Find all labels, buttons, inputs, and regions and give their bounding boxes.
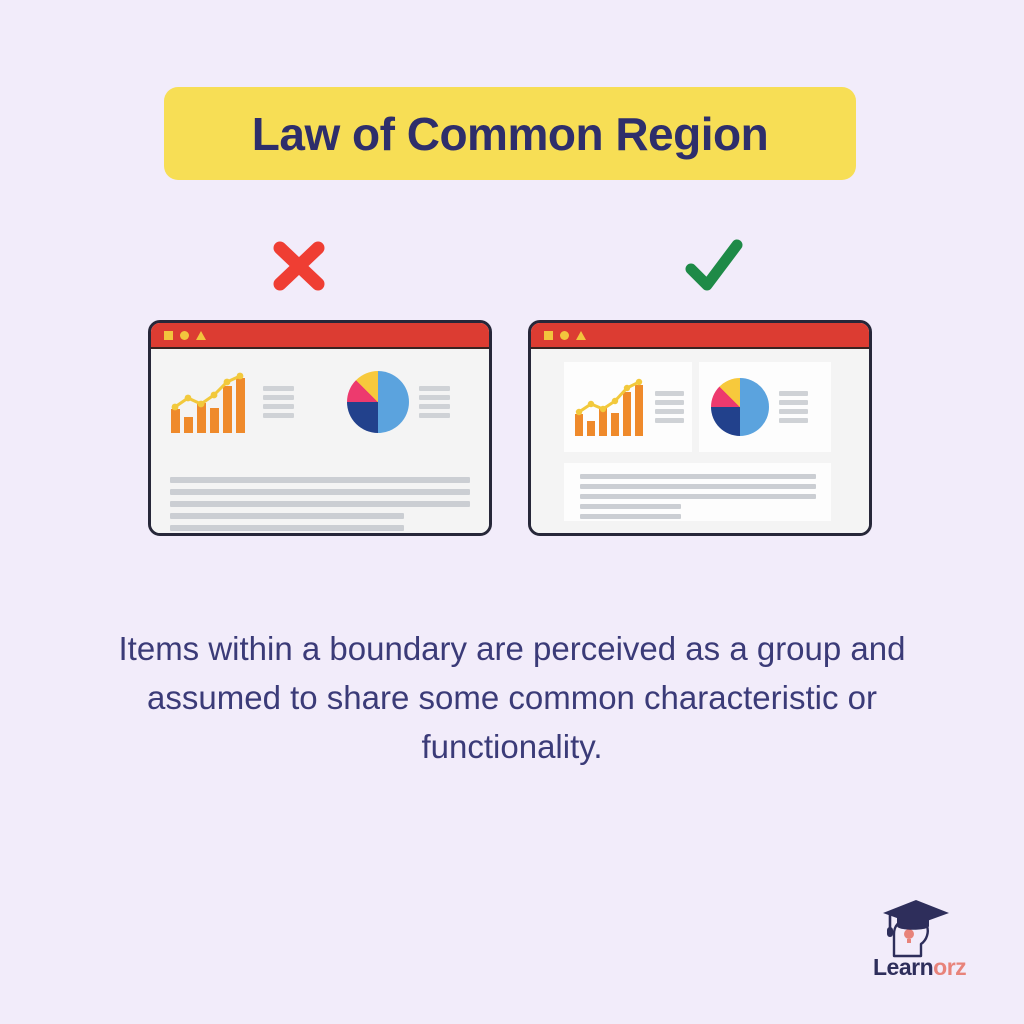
placeholder-line xyxy=(170,477,470,483)
chart-caption-lines xyxy=(419,386,450,418)
placeholder-line xyxy=(580,474,816,479)
paragraph-block xyxy=(170,477,470,531)
placeholder-line xyxy=(263,413,294,418)
placeholder-line xyxy=(655,391,684,396)
window-viewport xyxy=(151,349,489,533)
title-banner: Law of Common Region xyxy=(164,87,856,180)
trend-sparkline xyxy=(169,371,253,433)
pie-chart-widget xyxy=(711,378,808,436)
cross-mark-icon xyxy=(264,231,334,301)
placeholder-line xyxy=(170,513,404,519)
circle-control-icon[interactable] xyxy=(180,331,189,340)
placeholder-line xyxy=(580,514,681,519)
graduation-cap-head-lightbulb-icon xyxy=(881,898,951,958)
bar-chart-widget xyxy=(169,371,294,433)
chart-caption-lines xyxy=(655,391,684,423)
square-control-icon[interactable] xyxy=(544,331,553,340)
brand-logo: Learnorz xyxy=(873,898,993,984)
chart-caption-lines xyxy=(263,386,294,418)
square-control-icon[interactable] xyxy=(164,331,173,340)
placeholder-line xyxy=(419,386,450,391)
placeholder-line xyxy=(779,409,808,414)
placeholder-line xyxy=(170,489,470,495)
placeholder-line xyxy=(655,400,684,405)
distribution-pie-chart xyxy=(711,378,769,436)
placeholder-line xyxy=(580,484,816,489)
growth-bar-chart xyxy=(169,371,253,433)
window-viewport xyxy=(531,349,869,533)
card-pie-chart[interactable] xyxy=(699,362,831,452)
triangle-control-icon[interactable] xyxy=(576,331,586,340)
browser-window-ungrouped xyxy=(148,320,492,536)
brand-wordmark: Learnorz xyxy=(873,954,966,981)
pie-chart-widget xyxy=(347,371,450,433)
brand-name-secondary: orz xyxy=(933,954,966,980)
placeholder-line xyxy=(655,409,684,414)
trend-sparkline xyxy=(573,378,645,436)
placeholder-line xyxy=(779,400,808,405)
browser-window-grouped xyxy=(528,320,872,536)
placeholder-line xyxy=(779,391,808,396)
placeholder-line xyxy=(263,395,294,400)
placeholder-line xyxy=(419,404,450,409)
page-title: Law of Common Region xyxy=(252,107,768,161)
window-titlebar xyxy=(531,323,869,349)
distribution-pie-chart xyxy=(347,371,409,433)
placeholder-line xyxy=(419,395,450,400)
caption-text: Items within a boundary are perceived as… xyxy=(112,624,912,771)
placeholder-line xyxy=(779,418,808,423)
brand-name-primary: Learn xyxy=(873,954,933,980)
triangle-control-icon[interactable] xyxy=(196,331,206,340)
placeholder-line xyxy=(263,404,294,409)
check-mark-icon xyxy=(679,231,749,301)
circle-control-icon[interactable] xyxy=(560,331,569,340)
placeholder-line xyxy=(263,386,294,391)
bar-chart-widget xyxy=(573,378,684,436)
window-titlebar xyxy=(151,323,489,349)
card-bar-chart[interactable] xyxy=(564,362,692,452)
placeholder-line xyxy=(655,418,684,423)
paragraph-block xyxy=(580,474,816,519)
infographic-page: Law of Common Region xyxy=(0,0,1024,1024)
card-paragraph[interactable] xyxy=(564,463,831,521)
placeholder-line xyxy=(170,501,470,507)
growth-bar-chart xyxy=(573,378,645,436)
placeholder-line xyxy=(170,525,404,531)
placeholder-line xyxy=(419,413,450,418)
placeholder-line xyxy=(580,504,681,509)
chart-caption-lines xyxy=(779,391,808,423)
placeholder-line xyxy=(580,494,816,499)
